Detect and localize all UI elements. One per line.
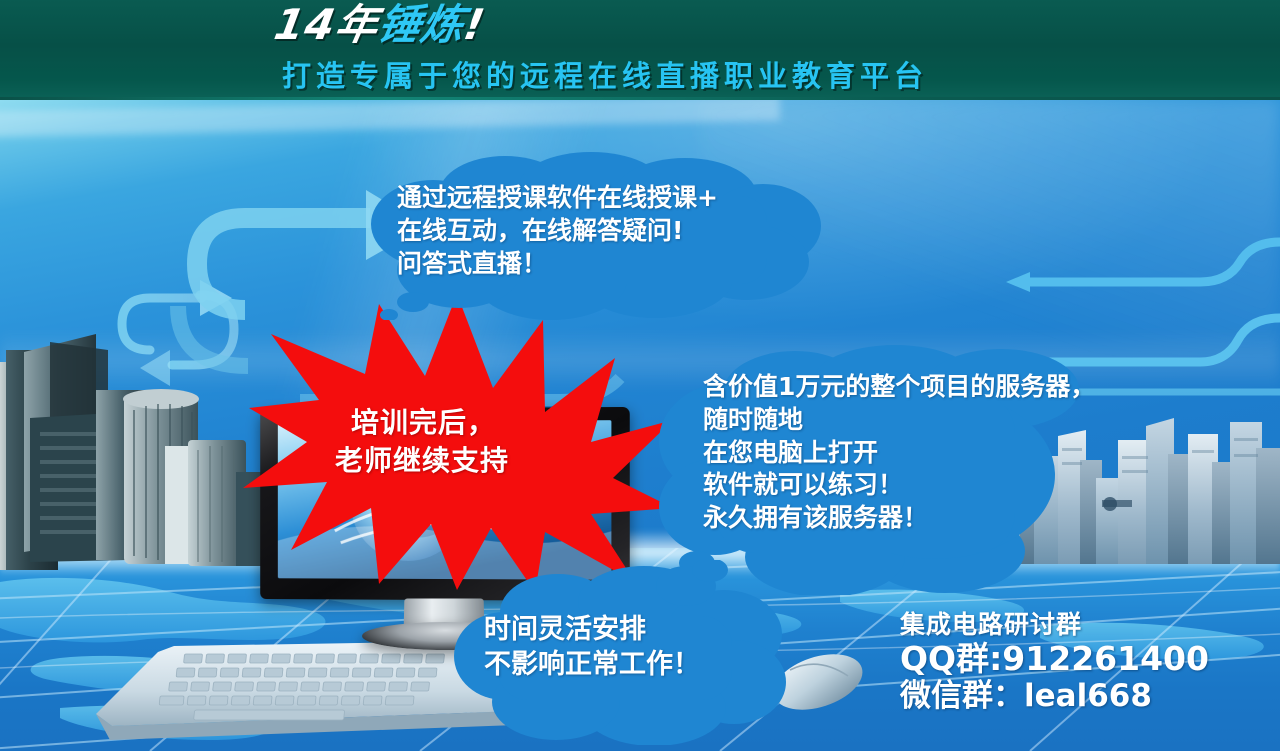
callout-server-text: 含价值1万元的整个项目的服务器， 随时随地 在您电脑上打开 软件就可以练习！ 永… [703, 371, 1095, 535]
teaching-line-1: 通过远程授课软件在线授课+ [397, 182, 718, 215]
contact-wechat[interactable]: 微信群：leal668 [900, 678, 1209, 715]
time-line-2: 不影响正常工作！ [484, 647, 700, 682]
teaching-line-2: 在线互动，在线解答疑问! [397, 215, 718, 248]
server-line-3: 在您电脑上打开 [703, 437, 1095, 470]
server-line-2: 随时随地 [703, 404, 1095, 437]
header-banner: 14年锤炼! 打造专属于您的远程在线直播职业教育平台 [0, 0, 1280, 100]
callout-teaching-text: 通过远程授课软件在线授课+ 在线互动，在线解答疑问! 问答式直播！ [397, 182, 718, 280]
server-line-4: 软件就可以练习！ [703, 469, 1095, 502]
callout-time-text: 时间灵活安排 不影响正常工作！ [484, 612, 700, 683]
contact-block: 集成电路研讨群 QQ群:912261400 微信群：leal668 [900, 610, 1209, 715]
server-line-1: 含价值1万元的整个项目的服务器， [703, 371, 1095, 404]
callout-time: 时间灵活安排 不影响正常工作！ [448, 560, 788, 745]
header-title-emphasis: 锤炼 [374, 0, 469, 49]
poster-canvas: 培训完后， 老师继续支持 通过远程授课软件在线授课+ 在线互 [0, 0, 1280, 751]
contact-group-name: 集成电路研讨群 [900, 610, 1209, 640]
teaching-line-3: 问答式直播！ [397, 248, 718, 281]
callout-server: 含价值1万元的整个项目的服务器， 随时随地 在您电脑上打开 软件就可以练习！ 永… [645, 345, 1205, 595]
server-line-5: 永久拥有该服务器！ [703, 502, 1095, 535]
starburst-shape-icon [243, 292, 673, 592]
time-line-1: 时间灵活安排 [484, 612, 700, 647]
starburst-badge: 培训完后， 老师继续支持 [243, 292, 673, 592]
header-title-years: 14年 [271, 0, 383, 49]
contact-qq[interactable]: QQ群:912261400 [900, 640, 1209, 679]
callout-teaching: 通过远程授课软件在线授课+ 在线互动，在线解答疑问! 问答式直播！ [355, 152, 825, 320]
header-subtitle: 打造专属于您的远程在线直播职业教育平台 [282, 62, 928, 91]
header-title: 14年锤炼! [271, 4, 488, 46]
